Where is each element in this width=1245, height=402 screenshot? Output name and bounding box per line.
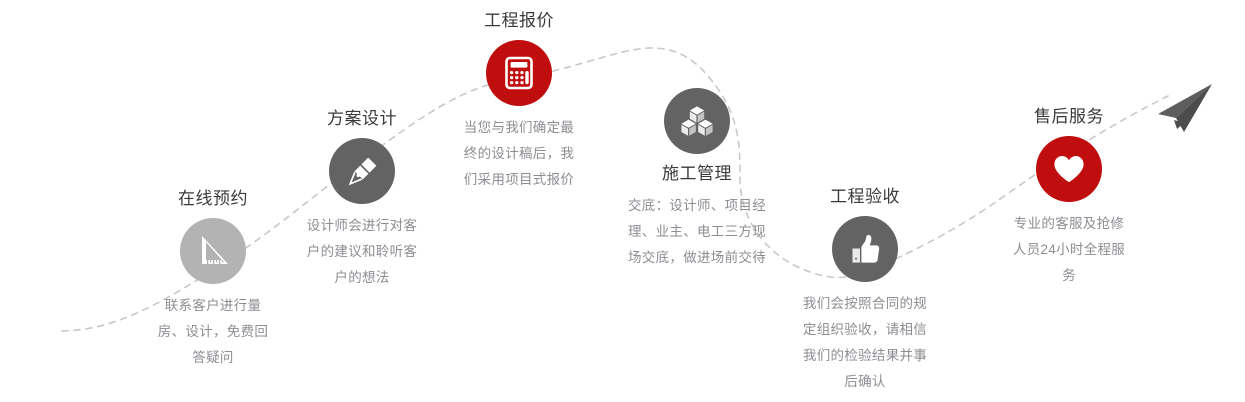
step-description: 我们会按照合同的规 定组织验收，请相信 我们的检验结果并事 后确认 [781, 291, 949, 395]
step-title: 工程验收 [775, 186, 955, 208]
step-4-construction-management[interactable]: 施工管理 交底：设计师、项目经 理、业主、电工三方现 场交底，做进场前交待 [597, 88, 797, 271]
calculator-icon [486, 40, 552, 106]
triangle-ruler-icon [180, 218, 246, 284]
thumbs-up-icon [832, 216, 898, 282]
step-title: 方案设计 [272, 108, 452, 130]
heart-icon [1036, 136, 1102, 202]
step-title: 售后服务 [979, 106, 1159, 128]
step-description: 交底：设计师、项目经 理、业主、电工三方现 场交底，做进场前交待 [606, 193, 788, 271]
fountain-pen-icon [329, 138, 395, 204]
step-6-after-sales-service[interactable]: 售后服务 专业的客服及抢修 人员24小时全程服 务 [979, 106, 1159, 289]
step-3-project-quotation[interactable]: 工程报价 当您与我 [429, 10, 609, 193]
step-description: 设计师会进行对客 户的建议和聆听客 户的想法 [287, 213, 437, 291]
step-2-scheme-design[interactable]: 方案设计 设计师会进行对客 户的建议和聆听客 户的想法 [272, 108, 452, 291]
cubes-icon [664, 88, 730, 154]
process-flow-diagram: 在线预约 联系客户进行量 房、设计，免费回 答疑问 [0, 0, 1245, 402]
paper-plane-icon [1150, 78, 1222, 145]
step-title: 施工管理 [597, 163, 797, 185]
step-title: 工程报价 [429, 10, 609, 32]
step-description: 联系客户进行量 房、设计，免费回 答疑问 [138, 293, 288, 371]
step-description: 专业的客服及抢修 人员24小时全程服 务 [994, 211, 1144, 289]
step-5-project-acceptance[interactable]: 工程验收 我们会按照合同的规 定组织验收，请相信 我们的检验结果并事 后确认 [775, 186, 955, 395]
step-description: 当您与我们确定最 终的设计稿后，我 们采用项目式报价 [444, 115, 594, 193]
